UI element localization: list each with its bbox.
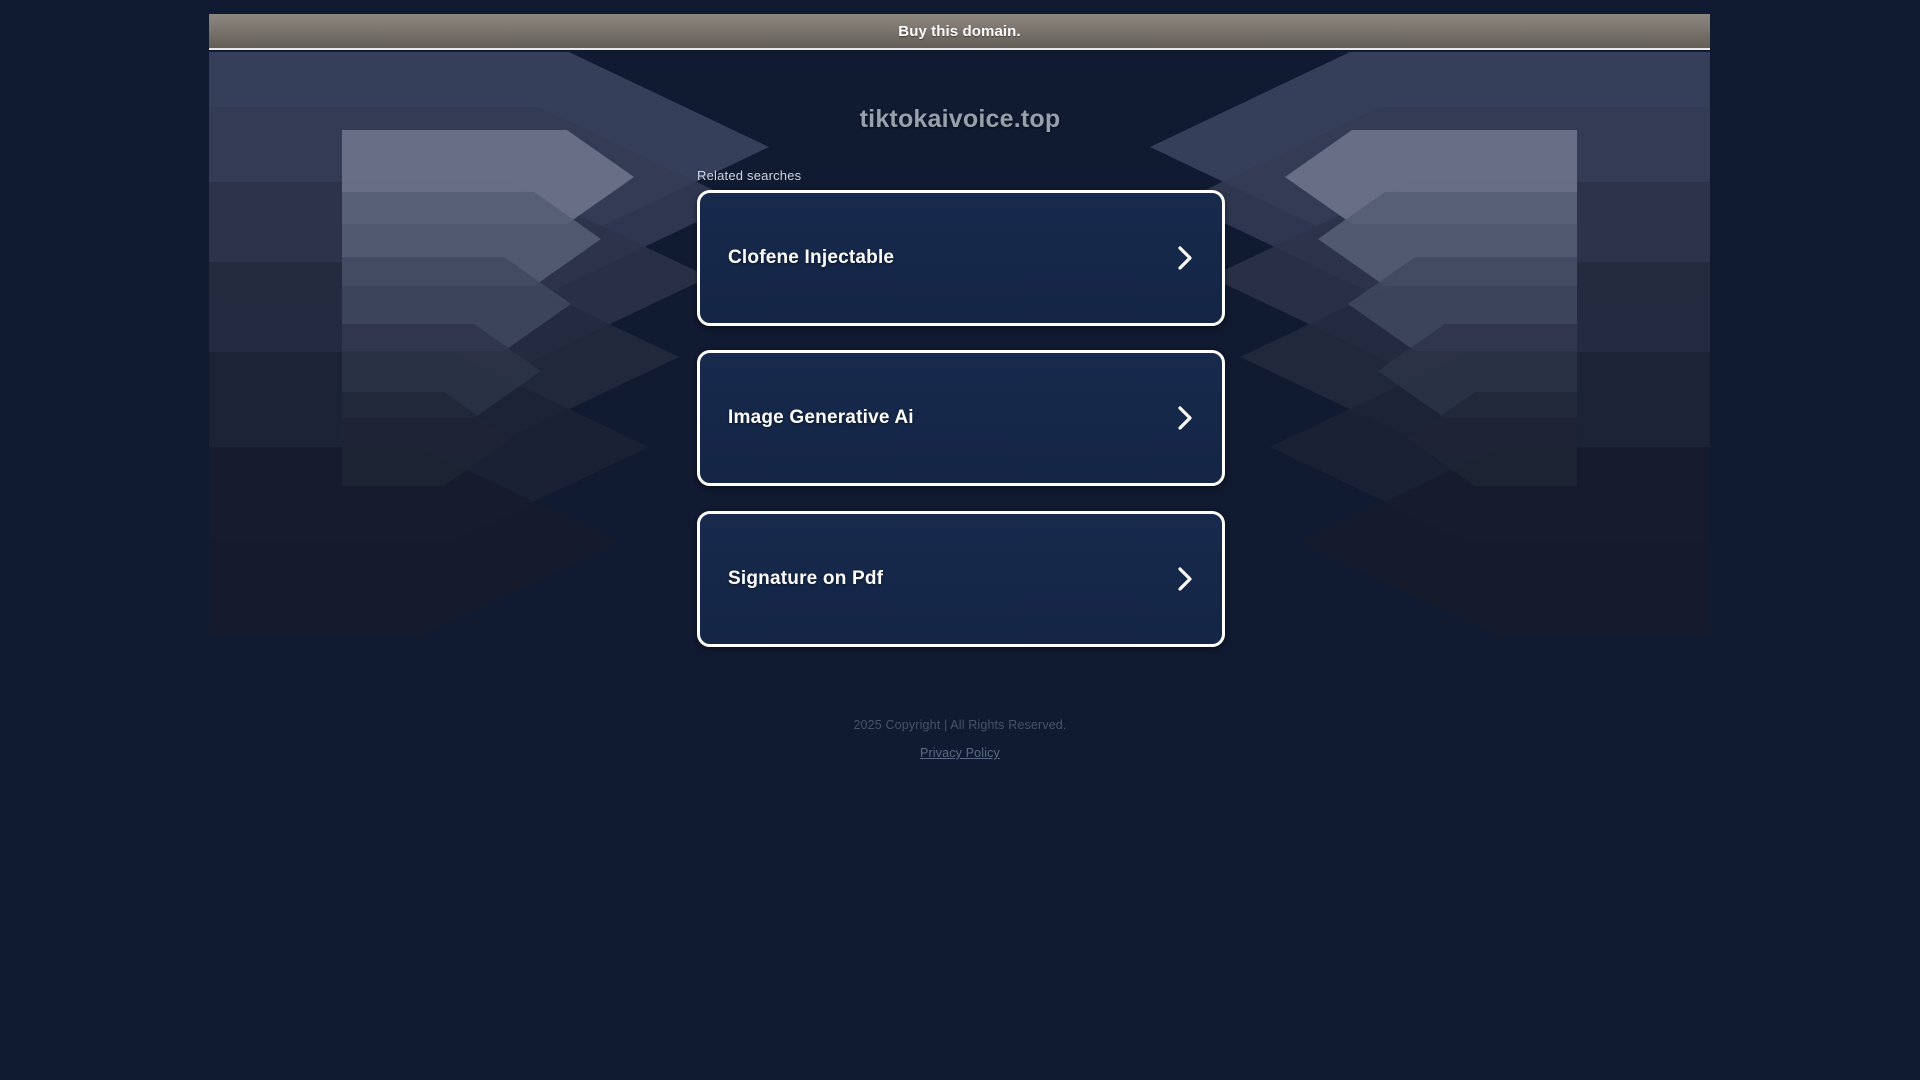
related-search-card[interactable]: Clofene Injectable (697, 190, 1225, 326)
related-search-card[interactable]: Signature on Pdf (697, 511, 1225, 647)
related-searches-heading: Related searches (697, 168, 801, 183)
chevron-right-icon (1174, 243, 1196, 273)
chevron-right-icon (1174, 564, 1196, 594)
content-column: tiktokaivoice.top Related searches Clofe… (0, 0, 1920, 1080)
related-search-card[interactable]: Image Generative Ai (697, 350, 1225, 486)
page-footer: 2025 Copyright | All Rights Reserved. Pr… (0, 718, 1920, 762)
privacy-policy-link[interactable]: Privacy Policy (920, 746, 1000, 760)
copyright-text: 2025 Copyright | All Rights Reserved. (0, 718, 1920, 732)
related-search-label: Clofene Injectable (728, 247, 894, 269)
related-search-label: Signature on Pdf (728, 568, 883, 590)
domain-name-title: tiktokaivoice.top (0, 105, 1920, 134)
chevron-right-icon (1174, 403, 1196, 433)
landing-page: Buy this domain. (0, 0, 1920, 1080)
related-search-label: Image Generative Ai (728, 407, 914, 429)
